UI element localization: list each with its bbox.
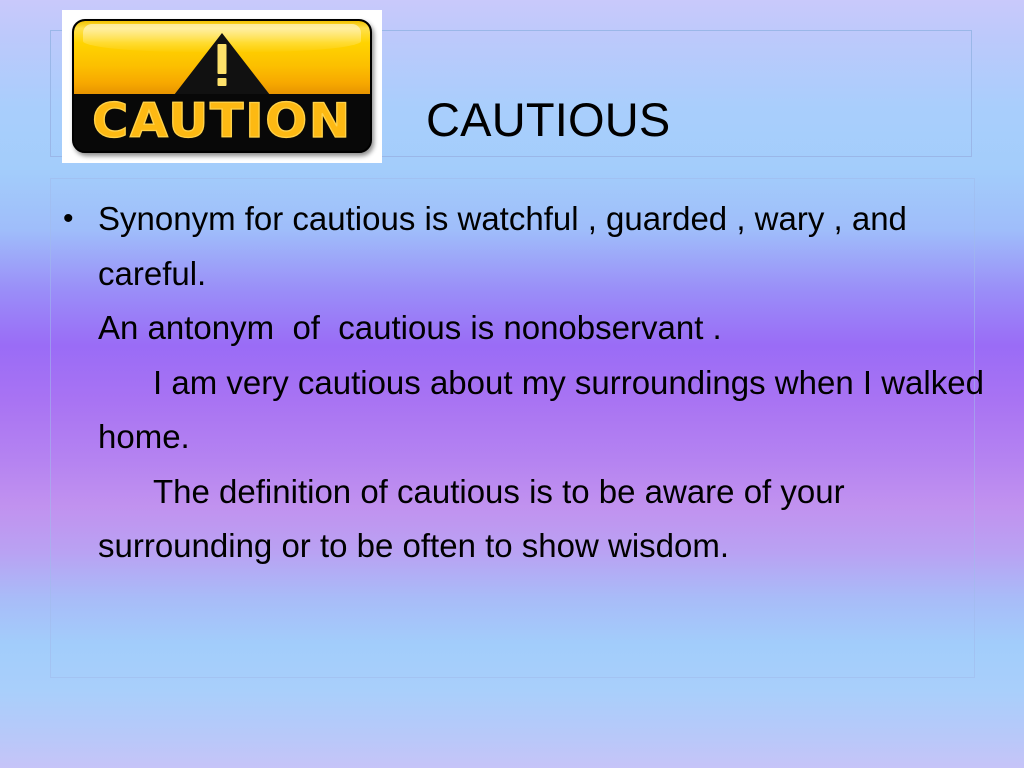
body-bullet-list: Synonym for cautious is watchful , guard… — [50, 192, 990, 574]
page-title: CAUTIOUS — [426, 94, 670, 146]
body-paragraph-2: An antonym of cautious is nonobservant . — [98, 301, 990, 356]
caution-sign-graphic: CAUTION — [72, 19, 372, 153]
body-paragraph-3: I am very cautious about my surroundings… — [98, 356, 990, 465]
caution-wordmark: CAUTION — [92, 99, 352, 147]
caution-sign-lower-panel: CAUTION — [74, 94, 370, 151]
caution-warning-image[interactable]: CAUTION — [62, 10, 382, 163]
caution-sign-upper-panel — [74, 21, 370, 94]
list-item: Synonym for cautious is watchful , guard… — [50, 192, 990, 574]
slide-canvas: CAUTIOUS CAUTION Synonym for cautious is… — [0, 0, 1024, 768]
body-paragraph-1: Synonym for cautious is watchful , guard… — [98, 192, 990, 301]
exclamation-mark-icon — [218, 44, 227, 74]
body-paragraph-4: The definition of cautious is to be awar… — [98, 465, 990, 574]
